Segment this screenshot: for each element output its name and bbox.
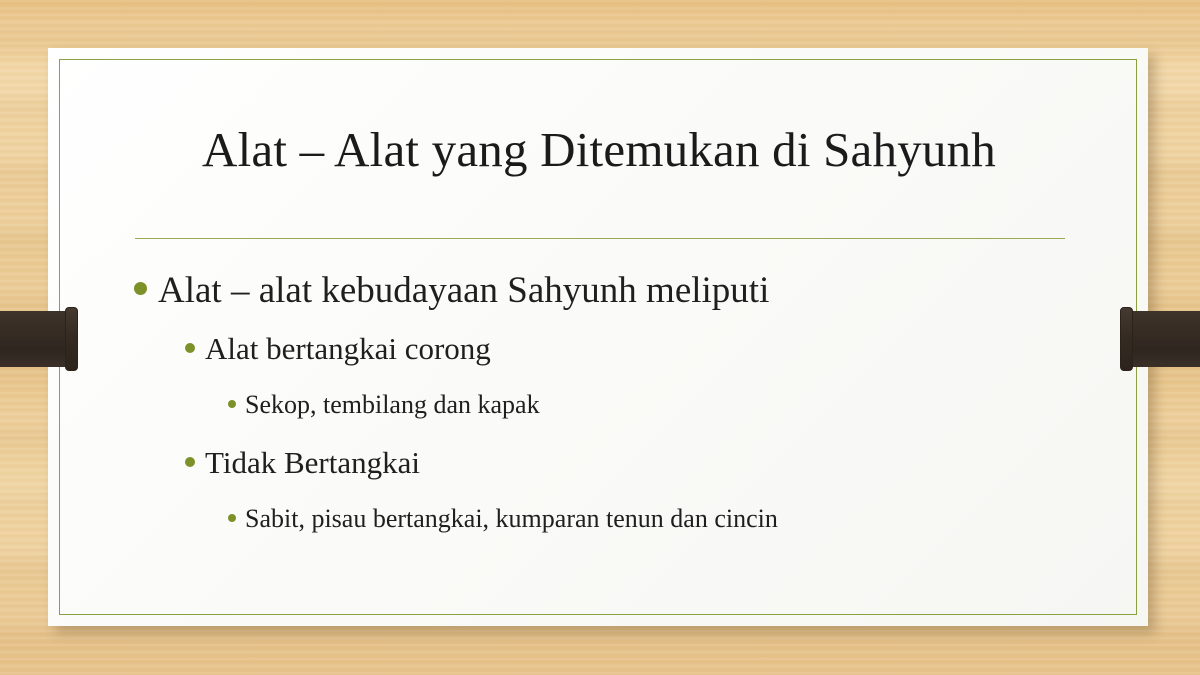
bullet-list: Alat – alat kebudayaan Sahyunh meliputi … [134, 264, 1134, 542]
title-underline-divider [135, 238, 1065, 239]
bullet-dot-icon [185, 457, 195, 467]
list-item-label: Alat bertangkai corong [205, 324, 491, 374]
page-title: Alat – Alat yang Ditemukan di Sahyunh [134, 124, 1064, 176]
slide-content: Alat – Alat yang Ditemukan di Sahyunh Al… [48, 48, 1148, 626]
slide-canvas: Alat – Alat yang Ditemukan di Sahyunh Al… [0, 0, 1200, 675]
list-item: Sekop, tembilang dan kapak [228, 382, 1134, 428]
frame-clip-left [0, 311, 70, 367]
frame-clip-left-cap [65, 307, 78, 371]
slide-card: Alat – Alat yang Ditemukan di Sahyunh Al… [48, 48, 1148, 626]
bullet-dot-icon [228, 400, 236, 408]
list-item-label: Sekop, tembilang dan kapak [245, 382, 540, 428]
list-item-label: Sabit, pisau bertangkai, kumparan tenun … [245, 496, 778, 542]
spacer [134, 488, 1134, 496]
list-item: Sabit, pisau bertangkai, kumparan tenun … [228, 496, 1134, 542]
bullet-dot-icon [228, 514, 236, 522]
list-item: Alat – alat kebudayaan Sahyunh meliputi [134, 264, 1134, 318]
frame-clip-right [1128, 311, 1200, 367]
bullet-dot-icon [185, 343, 195, 353]
spacer [134, 374, 1134, 382]
spacer [134, 428, 1134, 438]
list-item: Tidak Bertangkai [185, 438, 1134, 488]
bullet-dot-icon [134, 282, 147, 295]
frame-clip-right-cap [1120, 307, 1133, 371]
list-item-label: Alat – alat kebudayaan Sahyunh meliputi [158, 264, 769, 318]
list-item-label: Tidak Bertangkai [205, 438, 420, 488]
list-item: Alat bertangkai corong [185, 324, 1134, 374]
